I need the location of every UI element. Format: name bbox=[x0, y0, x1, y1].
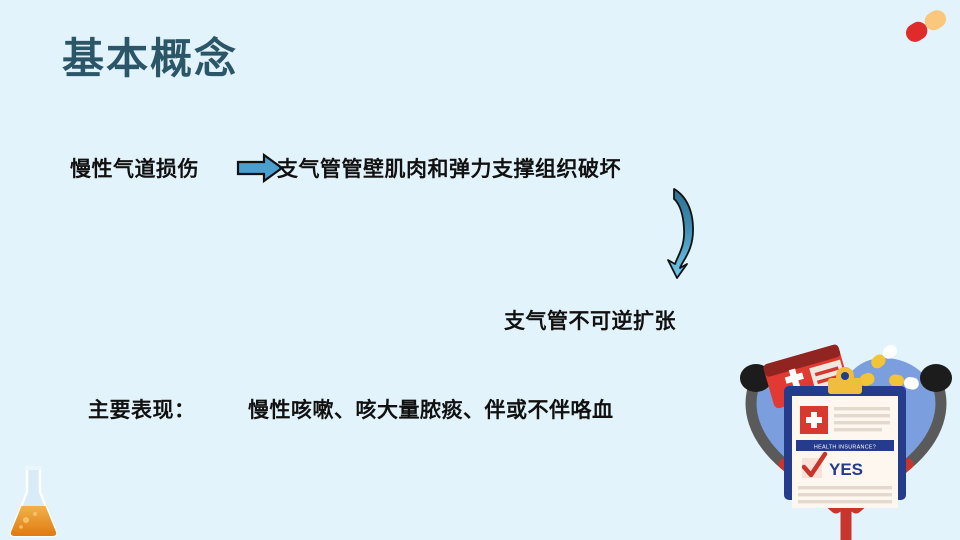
text-main-manifestations: 慢性咳嗽、咳大量脓痰、伴或不伴咯血 bbox=[248, 394, 614, 424]
capsule-pill-icon bbox=[900, 6, 952, 46]
text-chronic-airway-injury: 慢性气道损伤 bbox=[70, 153, 199, 183]
text-bronchial-wall-destruction: 支气管管壁肌肉和弹力支撑组织破坏 bbox=[277, 153, 621, 183]
slide-canvas: 基本概念 慢性气道损伤 支气管管壁肌肉和弹力支撑组织破坏 支气管不可逆扩张 主要… bbox=[0, 0, 960, 540]
form-banner-text: HEALTH INSURANCE? bbox=[814, 444, 876, 450]
page-title: 基本概念 bbox=[62, 38, 238, 80]
form-text-lines-lower bbox=[798, 486, 892, 503]
yes-label: YES bbox=[829, 460, 863, 479]
clipboard-form: HEALTH INSURANCE? YES bbox=[784, 367, 906, 508]
erlenmeyer-flask-icon bbox=[4, 462, 62, 540]
health-insurance-heart-illustration: HEALTH INSURANCE? YES bbox=[732, 330, 960, 540]
medical-cross-icon bbox=[800, 406, 828, 434]
label-main-manifestations: 主要表现： bbox=[88, 394, 196, 424]
stethoscope-earpiece-right-icon bbox=[920, 364, 952, 392]
text-irreversible-bronchiectasis: 支气管不可逆扩张 bbox=[504, 305, 676, 335]
curved-down-arrow-icon bbox=[660, 185, 712, 280]
